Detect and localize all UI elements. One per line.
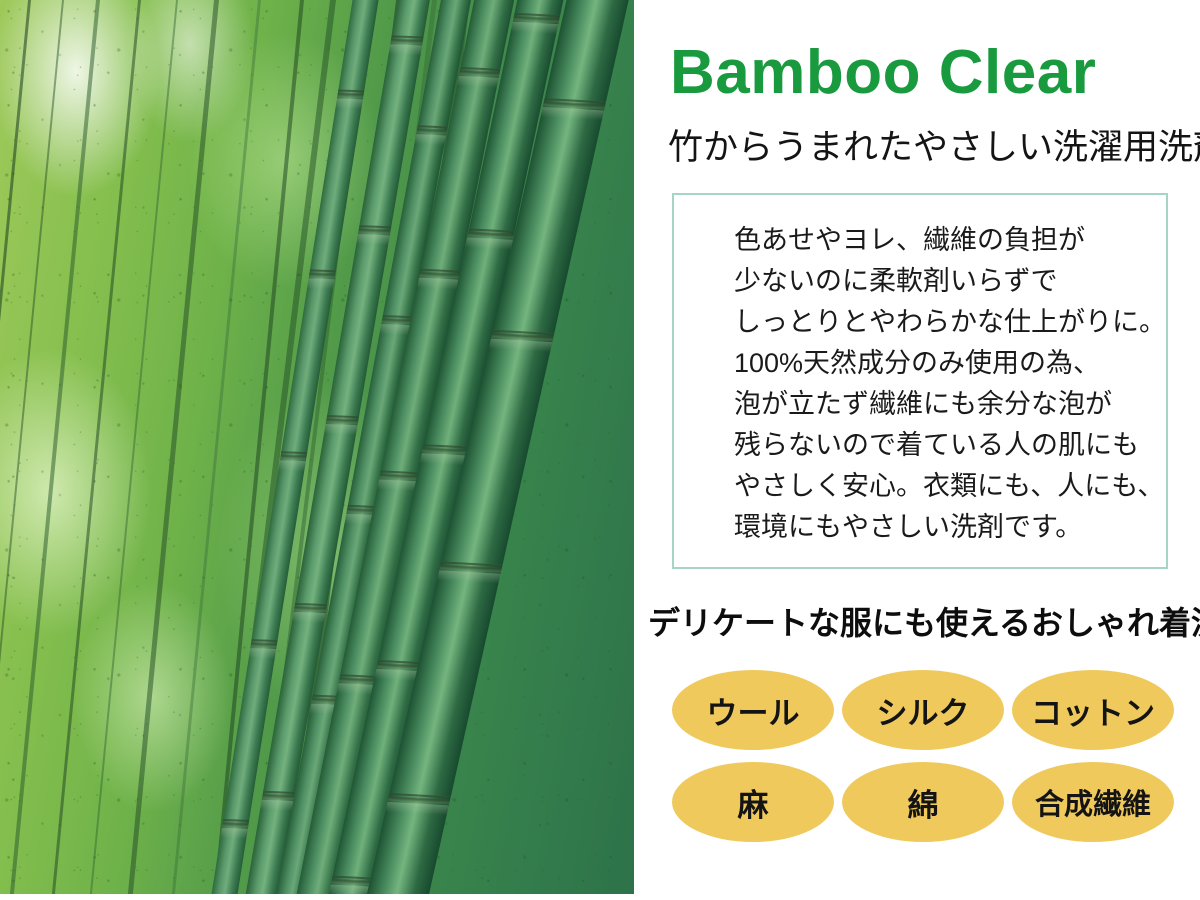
- fabric-tag-momen: 綿: [842, 762, 1004, 842]
- description-line: 泡が立たず繊維にも余分な泡が: [734, 384, 1166, 425]
- fabric-tag-cotton: コットン: [1012, 670, 1174, 750]
- fabric-tag-linen: 麻: [672, 762, 834, 842]
- description-line: 色あせやヨレ、繊維の負担が: [734, 220, 1166, 261]
- description-line: 少ないのに柔軟剤いらずで: [734, 261, 1166, 302]
- fabric-tag-silk: シルク: [842, 670, 1004, 750]
- description-line: しっとりとやわらかな仕上がりに。: [734, 302, 1166, 343]
- product-banner: Bamboo Clear 竹からうまれたやさしい洗濯用洗剤 色あせやヨレ、繊維の…: [0, 0, 1200, 900]
- text-panel: Bamboo Clear 竹からうまれたやさしい洗濯用洗剤 色あせやヨレ、繊維の…: [634, 0, 1200, 900]
- fabric-tag-row: 麻 綿 合成繊維: [672, 762, 1200, 842]
- page-title: Bamboo Clear: [670, 42, 1200, 104]
- bamboo-forest-photo: [0, 0, 634, 894]
- fabrics-heading: デリケートな服にも使えるおしゃれ着洗剤: [648, 604, 1200, 642]
- fabric-tag-list: ウール シルク コットン 麻 綿 合成繊維: [672, 670, 1200, 854]
- description-line: 残らないので着ている人の肌にも: [734, 425, 1166, 466]
- description-line: やさしく安心。衣類にも、人にも、: [734, 466, 1166, 507]
- fabric-tag-wool: ウール: [672, 670, 834, 750]
- fabric-tag-row: ウール シルク コットン: [672, 670, 1200, 750]
- description-box: 色あせやヨレ、繊維の負担が 少ないのに柔軟剤いらずで しっとりとやわらかな仕上が…: [672, 193, 1168, 569]
- description-line: 環境にもやさしい洗剤です。: [734, 507, 1166, 548]
- fabric-tag-synthetic: 合成繊維: [1012, 762, 1174, 842]
- description-line: 100%天然成分のみ使用の為、: [734, 343, 1166, 384]
- subtitle: 竹からうまれたやさしい洗濯用洗剤: [668, 128, 1192, 168]
- description-text: 色あせやヨレ、繊維の負担が 少ないのに柔軟剤いらずで しっとりとやわらかな仕上が…: [734, 220, 1166, 548]
